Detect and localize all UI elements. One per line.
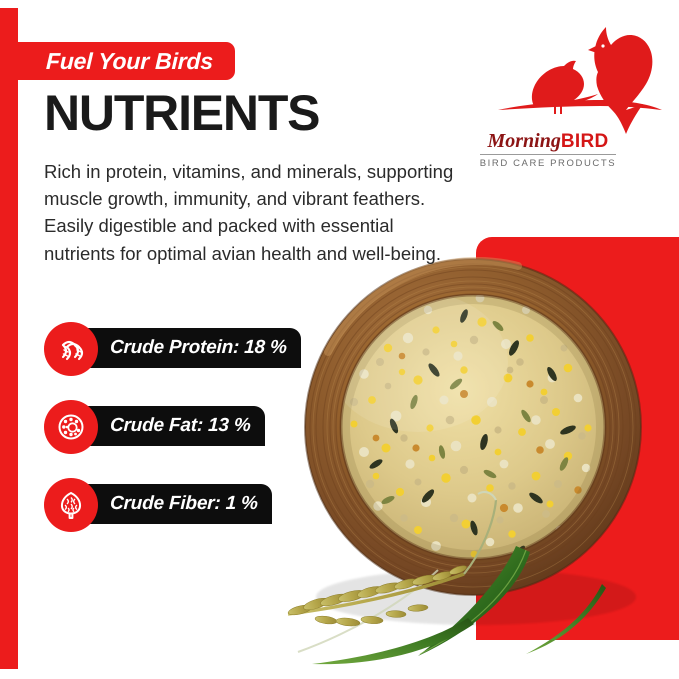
photo-illustration: [268, 252, 679, 679]
fact-label-crude-fat: Crude Fat: 13 %: [110, 415, 251, 437]
product-infographic-card: Fuel Your Birds NUTRIENTS Rich in protei…: [0, 0, 679, 679]
fact-pill-crude-fiber: Crude Fiber: 1 %: [82, 484, 272, 524]
fact-icon-badge-crude-fiber: [44, 478, 98, 532]
logo-word-morning: Morning: [487, 130, 560, 152]
fact-pill-crude-fat: Crude Fat: 13 %: [82, 406, 265, 446]
page-title: NUTRIENTS: [44, 88, 319, 138]
fact-icon-badge-crude-protein: [44, 322, 98, 376]
logo-wordmark: MorningBIRD BIRD CARE PRODUCTS: [478, 131, 618, 169]
product-photo: [268, 252, 679, 679]
logo-name-line: MorningBIRD: [478, 131, 618, 151]
fat-globule-icon: [54, 410, 88, 444]
logo-word-bird: BIRD: [561, 131, 609, 152]
description-text: Rich in protein, vitamins, and minerals,…: [44, 158, 454, 267]
fact-label-crude-fiber: Crude Fiber: 1 %: [110, 493, 259, 515]
fact-pill-crude-protein: Crude Protein: 18 %: [82, 328, 301, 368]
logo-divider: [480, 154, 616, 155]
eyebrow-banner: Fuel Your Birds: [0, 42, 235, 80]
two-red-birds-on-branch-icon: [480, 24, 666, 134]
protein-helix-icon: [54, 332, 88, 366]
eyebrow-label: Fuel Your Birds: [46, 48, 214, 75]
logo-tagline: BIRD CARE PRODUCTS: [478, 158, 618, 169]
left-red-accent-bar: [0, 8, 18, 669]
leaf-icon: [312, 618, 474, 664]
brand-logo: MorningBIRD BIRD CARE PRODUCTS: [480, 24, 666, 179]
artichoke-fiber-icon: [54, 488, 88, 522]
fact-icon-badge-crude-fat: [44, 400, 98, 454]
fact-label-crude-protein: Crude Protein: 18 %: [110, 337, 288, 359]
